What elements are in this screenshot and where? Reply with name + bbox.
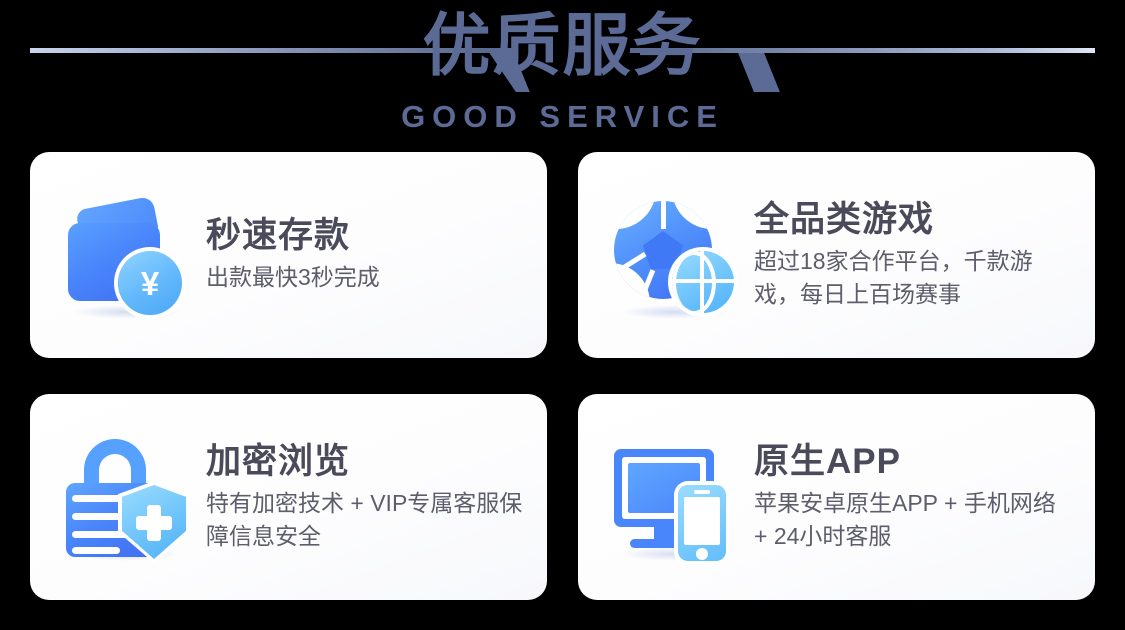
soccer-basketball-icon xyxy=(608,189,740,321)
phone-earpiece xyxy=(694,490,710,494)
feature-card-desc: 特有加密技术 + VIP专属客服保障信息安全 xyxy=(206,487,525,552)
feature-card-native-app[interactable]: 原生APP 苹果安卓原生APP + 手机网络 + 24小时客服 xyxy=(578,394,1095,600)
phone-screen xyxy=(684,497,720,545)
feature-card-text: 秒速存款 出款最快3秒完成 xyxy=(206,216,525,294)
feature-card-games[interactable]: 全品类游戏 超过18家合作平台，千款游戏，每日上百场赛事 xyxy=(578,152,1095,358)
feature-card-grid: ¥ 秒速存款 出款最快3秒完成 xyxy=(30,152,1095,600)
header: 优质服务 GOOD SERVICE xyxy=(0,0,1125,150)
feature-card-text: 全品类游戏 超过18家合作平台，千款游戏，每日上百场赛事 xyxy=(754,200,1073,311)
feature-card-desc: 出款最快3秒完成 xyxy=(206,261,525,294)
ball-seam xyxy=(672,201,712,229)
feature-card-title: 原生APP xyxy=(754,442,1073,481)
cross-icon xyxy=(136,516,172,530)
page-subtitle: GOOD SERVICE xyxy=(0,101,1125,132)
monitor-phone-icon xyxy=(608,431,740,563)
feature-card-title: 加密浏览 xyxy=(206,442,525,481)
phone-home-button xyxy=(696,548,708,560)
feature-card-title: 全品类游戏 xyxy=(754,200,1073,239)
ball-seam xyxy=(661,201,666,229)
yen-coin-badge: ¥ xyxy=(118,251,182,315)
feature-card-text: 加密浏览 特有加密技术 + VIP专属客服保障信息安全 xyxy=(206,442,525,553)
feature-card-encryption[interactable]: 加密浏览 特有加密技术 + VIP专属客服保障信息安全 xyxy=(30,394,547,600)
lock-shield-icon xyxy=(60,431,192,563)
feature-card-title: 秒速存款 xyxy=(206,216,525,255)
basketball xyxy=(672,251,734,313)
page-title: 优质服务 xyxy=(0,12,1125,80)
wallet-yen-icon: ¥ xyxy=(60,189,192,321)
feature-card-deposit[interactable]: ¥ 秒速存款 出款最快3秒完成 xyxy=(30,152,547,358)
ball-seam xyxy=(614,201,656,229)
promo-banner: 优质服务 GOOD SERVICE ¥ 秒速存款 出款最快3秒完成 xyxy=(0,0,1125,630)
feature-card-desc: 苹果安卓原生APP + 手机网络 + 24小时客服 xyxy=(754,487,1073,552)
basketball-seam xyxy=(672,279,734,283)
feature-card-desc: 超过18家合作平台，千款游戏，每日上百场赛事 xyxy=(754,245,1073,310)
feature-card-text: 原生APP 苹果安卓原生APP + 手机网络 + 24小时客服 xyxy=(754,442,1073,553)
lock-slot xyxy=(72,547,120,554)
